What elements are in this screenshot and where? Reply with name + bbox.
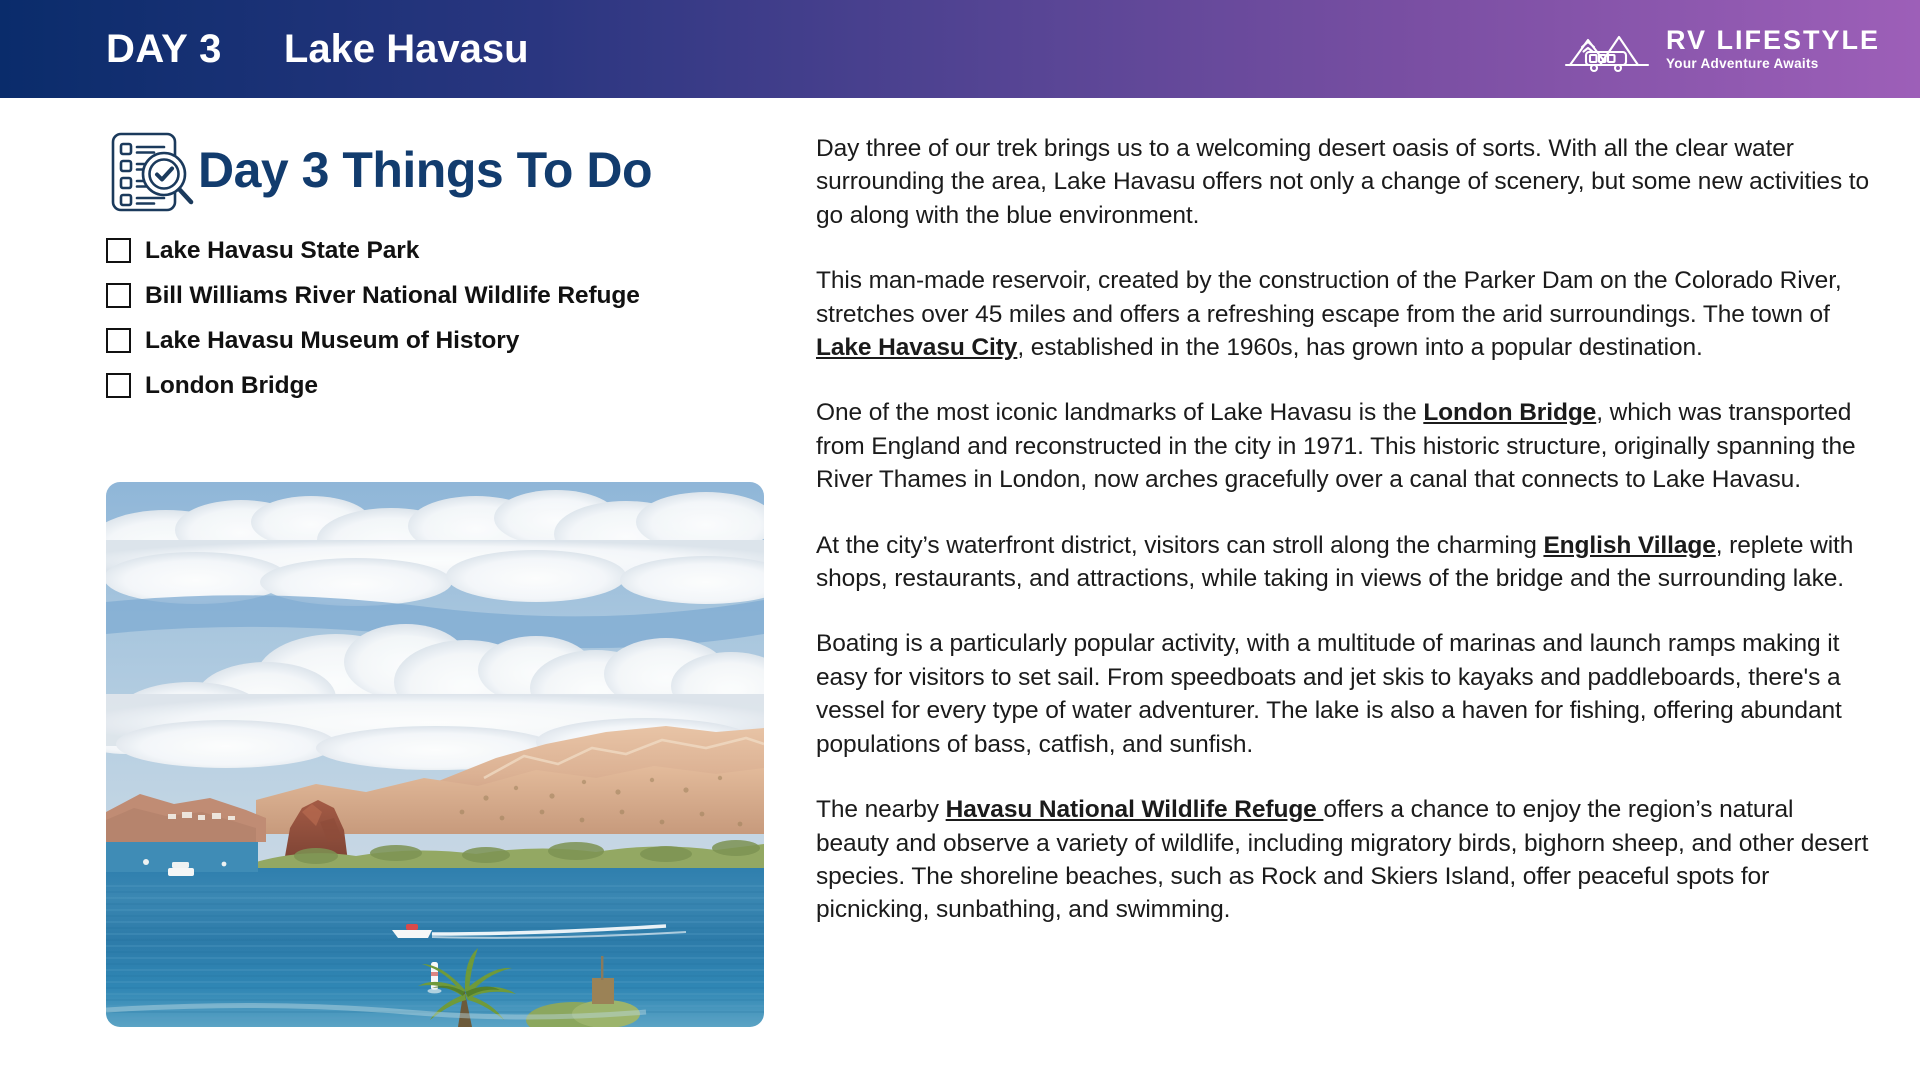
page-header: DAY 3 Lake Havasu <box>0 0 1920 98</box>
paragraph-text: This man-made reservoir, created by the … <box>816 267 1842 327</box>
paragraph-text: Day three of our trek brings us to a wel… <box>816 135 1869 229</box>
inline-link[interactable]: Lake Havasu City <box>816 334 1017 361</box>
paragraph-text: At the city’s waterfront district, visit… <box>816 532 1543 559</box>
inline-link[interactable]: Havasu National Wildlife Refuge <box>946 796 1324 823</box>
brand-logo[interactable]: RV LIFESTYLE Your Adventure Awaits <box>1564 21 1880 77</box>
list-item-label: Lake Havasu Museum of History <box>145 327 519 355</box>
list-item-label: Lake Havasu State Park <box>145 237 419 265</box>
header-title-group: DAY 3 Lake Havasu <box>106 27 529 72</box>
brand-tagline: Your Adventure Awaits <box>1666 56 1819 72</box>
brand-text-group: RV LIFESTYLE Your Adventure Awaits <box>1666 26 1880 73</box>
paragraph-text: One of the most iconic landmarks of Lake… <box>816 399 1423 426</box>
paragraph-boating: Boating is a particularly popular activi… <box>816 627 1871 761</box>
paragraph-text: The nearby <box>816 796 946 823</box>
list-item[interactable]: Lake Havasu State Park <box>106 228 778 273</box>
page-title: Lake Havasu <box>284 27 529 72</box>
list-item[interactable]: London Bridge <box>106 363 778 408</box>
article-body: Day three of our trek brings us to a wel… <box>816 132 1871 927</box>
list-item[interactable]: Bill Williams River National Wildlife Re… <box>106 273 778 318</box>
brand-name: RV LIFESTYLE <box>1666 26 1880 54</box>
checkbox[interactable] <box>106 328 131 353</box>
paragraph-english-village: At the city’s waterfront district, visit… <box>816 529 1871 596</box>
inline-link[interactable]: London Bridge <box>1423 399 1596 426</box>
paragraph-wildlife-refuge: The nearby Havasu National Wildlife Refu… <box>816 793 1871 927</box>
mountains-rv-icon <box>1564 21 1650 77</box>
inline-link[interactable]: English Village <box>1543 532 1715 559</box>
things-to-do-header: Day 3 Things To Do <box>106 130 778 210</box>
left-column: Day 3 Things To Do Lake Havasu State Par… <box>106 130 778 408</box>
day-number-label: DAY 3 <box>106 27 222 72</box>
paragraph-text: Boating is a particularly popular activi… <box>816 630 1842 757</box>
checkbox[interactable] <box>106 373 131 398</box>
list-item-label: London Bridge <box>145 372 318 400</box>
paragraph-reservoir: This man-made reservoir, created by the … <box>816 264 1871 364</box>
lake-havasu-photo <box>106 482 764 1027</box>
paragraph-london-bridge: One of the most iconic landmarks of Lake… <box>816 396 1871 496</box>
paragraph-intro: Day three of our trek brings us to a wel… <box>816 132 1871 232</box>
list-item[interactable]: Lake Havasu Museum of History <box>106 318 778 363</box>
checkbox[interactable] <box>106 238 131 263</box>
things-to-do-title: Day 3 Things To Do <box>198 141 652 199</box>
list-item-label: Bill Williams River National Wildlife Re… <box>145 282 640 310</box>
paragraph-text: , established in the 1960s, has grown in… <box>1017 334 1702 361</box>
things-to-do-checklist: Lake Havasu State Park Bill Williams Riv… <box>106 228 778 408</box>
checklist-magnifier-icon <box>106 126 202 218</box>
checkbox[interactable] <box>106 283 131 308</box>
